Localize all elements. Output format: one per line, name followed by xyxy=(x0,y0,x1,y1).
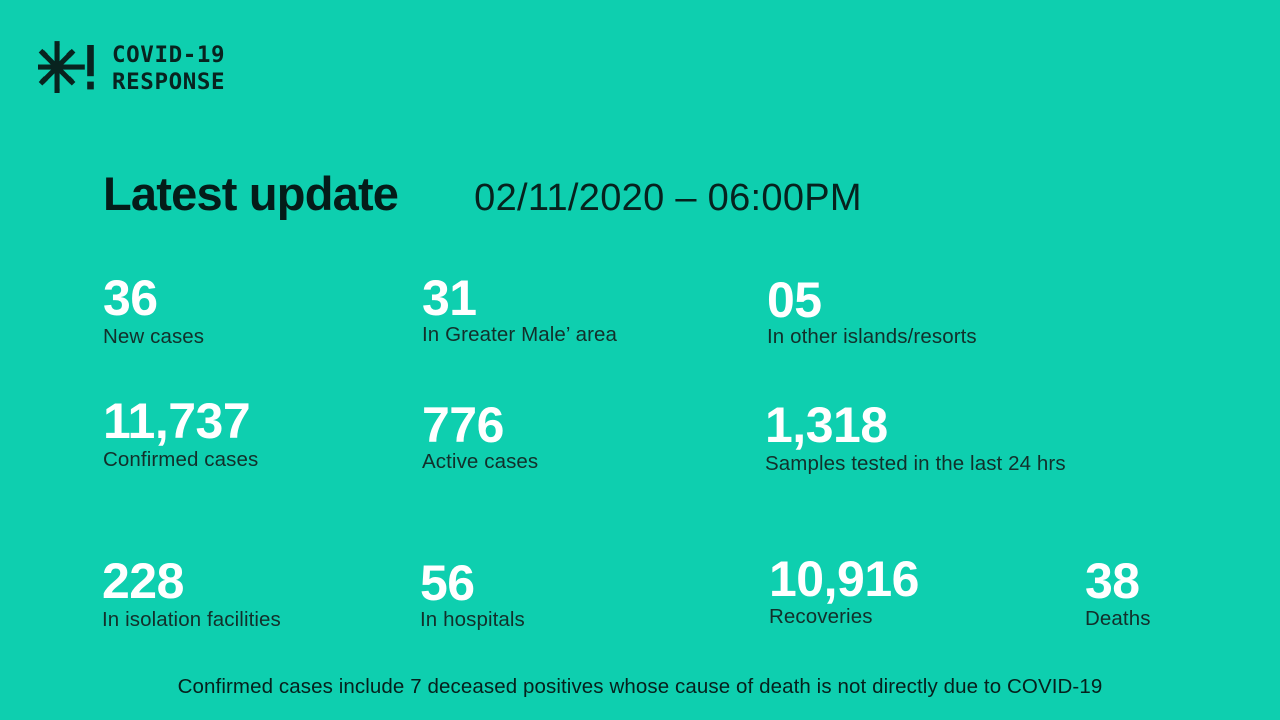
stat-value: 56 xyxy=(420,560,525,606)
stat-in-hospitals: 56 In hospitals xyxy=(420,560,525,632)
stat-value: 36 xyxy=(103,275,204,321)
virus-starburst-exclamation-icon xyxy=(38,40,98,98)
page-title: Latest update xyxy=(103,170,398,217)
stat-label: New cases xyxy=(103,326,204,349)
stat-value: 05 xyxy=(767,277,977,323)
stat-label: Active cases xyxy=(422,451,538,474)
stat-label: In hospitals xyxy=(420,609,525,632)
footnote: Confirmed cases include 7 deceased posit… xyxy=(0,676,1280,699)
stat-value: 11,737 xyxy=(103,398,258,444)
stat-value: 38 xyxy=(1085,558,1151,604)
brand-wordmark: COVID-19 RESPONSE xyxy=(112,42,225,96)
stat-other-islands-resorts: 05 In other islands/resorts xyxy=(767,277,977,349)
stat-greater-male-area: 31 In Greater Male’ area xyxy=(422,275,617,347)
stat-confirmed-cases: 11,737 Confirmed cases xyxy=(103,398,258,472)
brand-line-2: RESPONSE xyxy=(112,69,225,95)
stat-label: Recoveries xyxy=(769,606,919,629)
stat-label: Confirmed cases xyxy=(103,449,258,472)
stat-value: 776 xyxy=(422,402,538,448)
stat-deaths: 38 Deaths xyxy=(1085,558,1151,631)
stat-label: Deaths xyxy=(1085,608,1151,631)
stat-value: 228 xyxy=(102,558,281,604)
stat-new-cases: 36 New cases xyxy=(103,275,204,349)
stat-label: In Greater Male’ area xyxy=(422,324,617,347)
stat-value: 1,318 xyxy=(765,402,1066,448)
stat-label: Samples tested in the last 24 hrs xyxy=(765,453,1066,476)
stat-active-cases: 776 Active cases xyxy=(422,402,538,474)
brand-line-1: COVID-19 xyxy=(112,42,225,68)
stat-value: 31 xyxy=(422,275,617,321)
stat-isolation-facilities: 228 In isolation facilities xyxy=(102,558,281,632)
stat-label: In isolation facilities xyxy=(102,609,281,632)
brand-logo: COVID-19 RESPONSE xyxy=(38,40,225,98)
update-timestamp: 02/11/2020 – 06:00PM xyxy=(474,179,862,217)
stat-samples-tested: 1,318 Samples tested in the last 24 hrs xyxy=(765,402,1066,476)
stat-recoveries: 10,916 Recoveries xyxy=(769,556,919,629)
page-header: Latest update 02/11/2020 – 06:00PM xyxy=(103,170,862,217)
stat-value: 10,916 xyxy=(769,556,919,602)
stat-label: In other islands/resorts xyxy=(767,326,977,349)
